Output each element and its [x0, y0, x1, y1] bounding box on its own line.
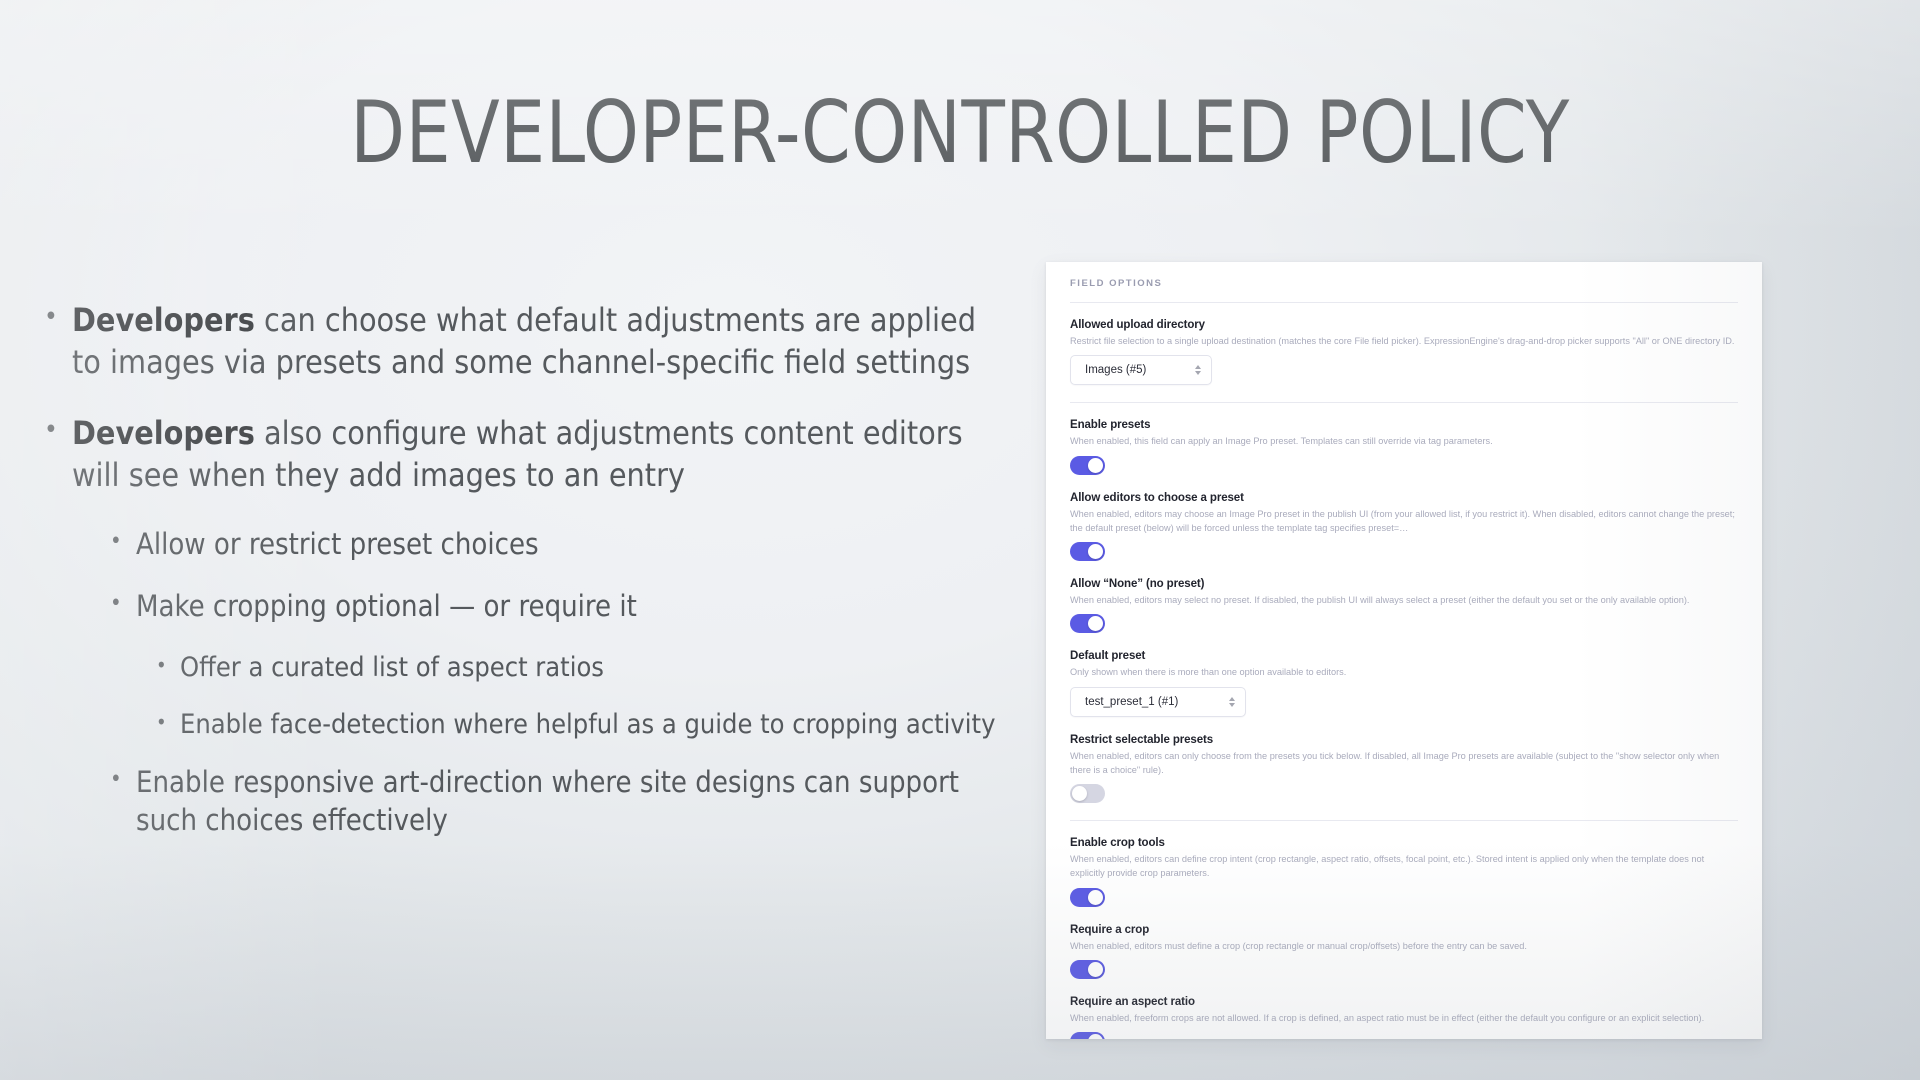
setting-field: Enable presetsWhen enabled, this field c… [1070, 419, 1738, 474]
toggle-switch[interactable] [1070, 456, 1105, 475]
bullet-emphasis: Developers [72, 301, 255, 339]
bullet-text: Enable responsive art-direction where si… [136, 764, 1004, 839]
setting-field: Require an aspect ratioWhen enabled, fre… [1070, 996, 1738, 1039]
setting-field: Allowed upload directoryRestrict file se… [1070, 319, 1738, 385]
select-value: test_preset_1 (#1) [1085, 696, 1178, 708]
bullet-item: •Developers also configure what adjustme… [44, 413, 1004, 496]
setting-field: Allow editors to choose a presetWhen ena… [1070, 492, 1738, 562]
divider [1070, 402, 1738, 403]
setting-label: Enable crop tools [1070, 837, 1738, 849]
bullet-item: •Make cropping optional — or require it [44, 588, 1004, 626]
setting-label: Allow editors to choose a preset [1070, 492, 1738, 504]
setting-label: Require an aspect ratio [1070, 996, 1738, 1008]
divider [1070, 302, 1738, 303]
bullet-marker: • [44, 413, 72, 443]
toggle-switch[interactable] [1070, 960, 1105, 979]
select-control[interactable]: Images (#5) [1070, 355, 1212, 385]
setting-label: Require a crop [1070, 924, 1738, 936]
bullet-marker: • [44, 300, 72, 330]
bullet-emphasis: Developers [72, 414, 255, 452]
setting-field: Restrict selectable presetsWhen enabled,… [1070, 734, 1738, 804]
bullet-marker: • [110, 588, 136, 615]
bullet-item: •Allow or restrict preset choices [44, 526, 1004, 564]
setting-label: Allowed upload directory [1070, 319, 1738, 331]
bullet-item: •Offer a curated list of aspect ratios [44, 650, 1004, 685]
chevron-updown-icon [1229, 697, 1235, 707]
bullet-item: •Enable face-detection where helpful as … [44, 707, 1004, 742]
bullet-marker: • [110, 764, 136, 791]
slide-canvas: DEVELOPER-CONTROLLED POLICY •Developers … [0, 0, 1920, 1080]
page-title: DEVELOPER-CONTROLLED POLICY [77, 88, 1843, 178]
setting-label: Default preset [1070, 650, 1738, 662]
bullet-item: •Developers can choose what default adju… [44, 300, 1004, 383]
toggle-switch[interactable] [1070, 888, 1105, 907]
bullet-text: Developers can choose what default adjus… [72, 300, 1004, 383]
setting-help-text: When enabled, freeform crops are not all… [1070, 1011, 1738, 1025]
setting-help-text: When enabled, editors may select no pres… [1070, 593, 1738, 607]
bullet-text: Enable face-detection where helpful as a… [180, 707, 1004, 742]
bullet-list: •Developers can choose what default adju… [44, 300, 1004, 863]
setting-field: Require a cropWhen enabled, editors must… [1070, 924, 1738, 979]
setting-field: Enable crop toolsWhen enabled, editors c… [1070, 837, 1738, 907]
setting-label: Restrict selectable presets [1070, 734, 1738, 746]
setting-field: Allow “None” (no preset)When enabled, ed… [1070, 578, 1738, 633]
setting-help-text: When enabled, this field can apply an Im… [1070, 434, 1738, 448]
toggle-switch[interactable] [1070, 1032, 1105, 1039]
bullet-text: Allow or restrict preset choices [136, 526, 1004, 564]
bullet-text: Offer a curated list of aspect ratios [180, 650, 1004, 685]
panel-field-list: Allowed upload directoryRestrict file se… [1070, 319, 1738, 1039]
panel-eyebrow: FIELD OPTIONS [1070, 278, 1738, 302]
bullet-text: Make cropping optional — or require it [136, 588, 1004, 626]
field-options-panel: FIELD OPTIONS Allowed upload directoryRe… [1046, 262, 1762, 1039]
setting-field: Default presetOnly shown when there is m… [1070, 650, 1738, 716]
bullet-text: Developers also configure what adjustmen… [72, 413, 1004, 496]
setting-help-text: When enabled, editors can define crop in… [1070, 852, 1738, 881]
bullet-marker: • [156, 707, 180, 732]
toggle-switch[interactable] [1070, 542, 1105, 561]
chevron-updown-icon [1195, 365, 1201, 375]
bullet-item: •Enable responsive art-direction where s… [44, 764, 1004, 839]
setting-help-text: When enabled, editors may choose an Imag… [1070, 507, 1738, 536]
select-control[interactable]: test_preset_1 (#1) [1070, 687, 1246, 717]
divider [1070, 820, 1738, 821]
setting-label: Enable presets [1070, 419, 1738, 431]
bullet-marker: • [110, 526, 136, 553]
toggle-switch[interactable] [1070, 784, 1105, 803]
setting-help-text: Restrict file selection to a single uplo… [1070, 334, 1738, 348]
setting-help-text: When enabled, editors can only choose fr… [1070, 749, 1738, 778]
setting-help-text: When enabled, editors must define a crop… [1070, 939, 1738, 953]
setting-label: Allow “None” (no preset) [1070, 578, 1738, 590]
select-value: Images (#5) [1085, 364, 1146, 376]
toggle-switch[interactable] [1070, 614, 1105, 633]
bullet-marker: • [156, 650, 180, 675]
setting-help-text: Only shown when there is more than one o… [1070, 665, 1738, 679]
